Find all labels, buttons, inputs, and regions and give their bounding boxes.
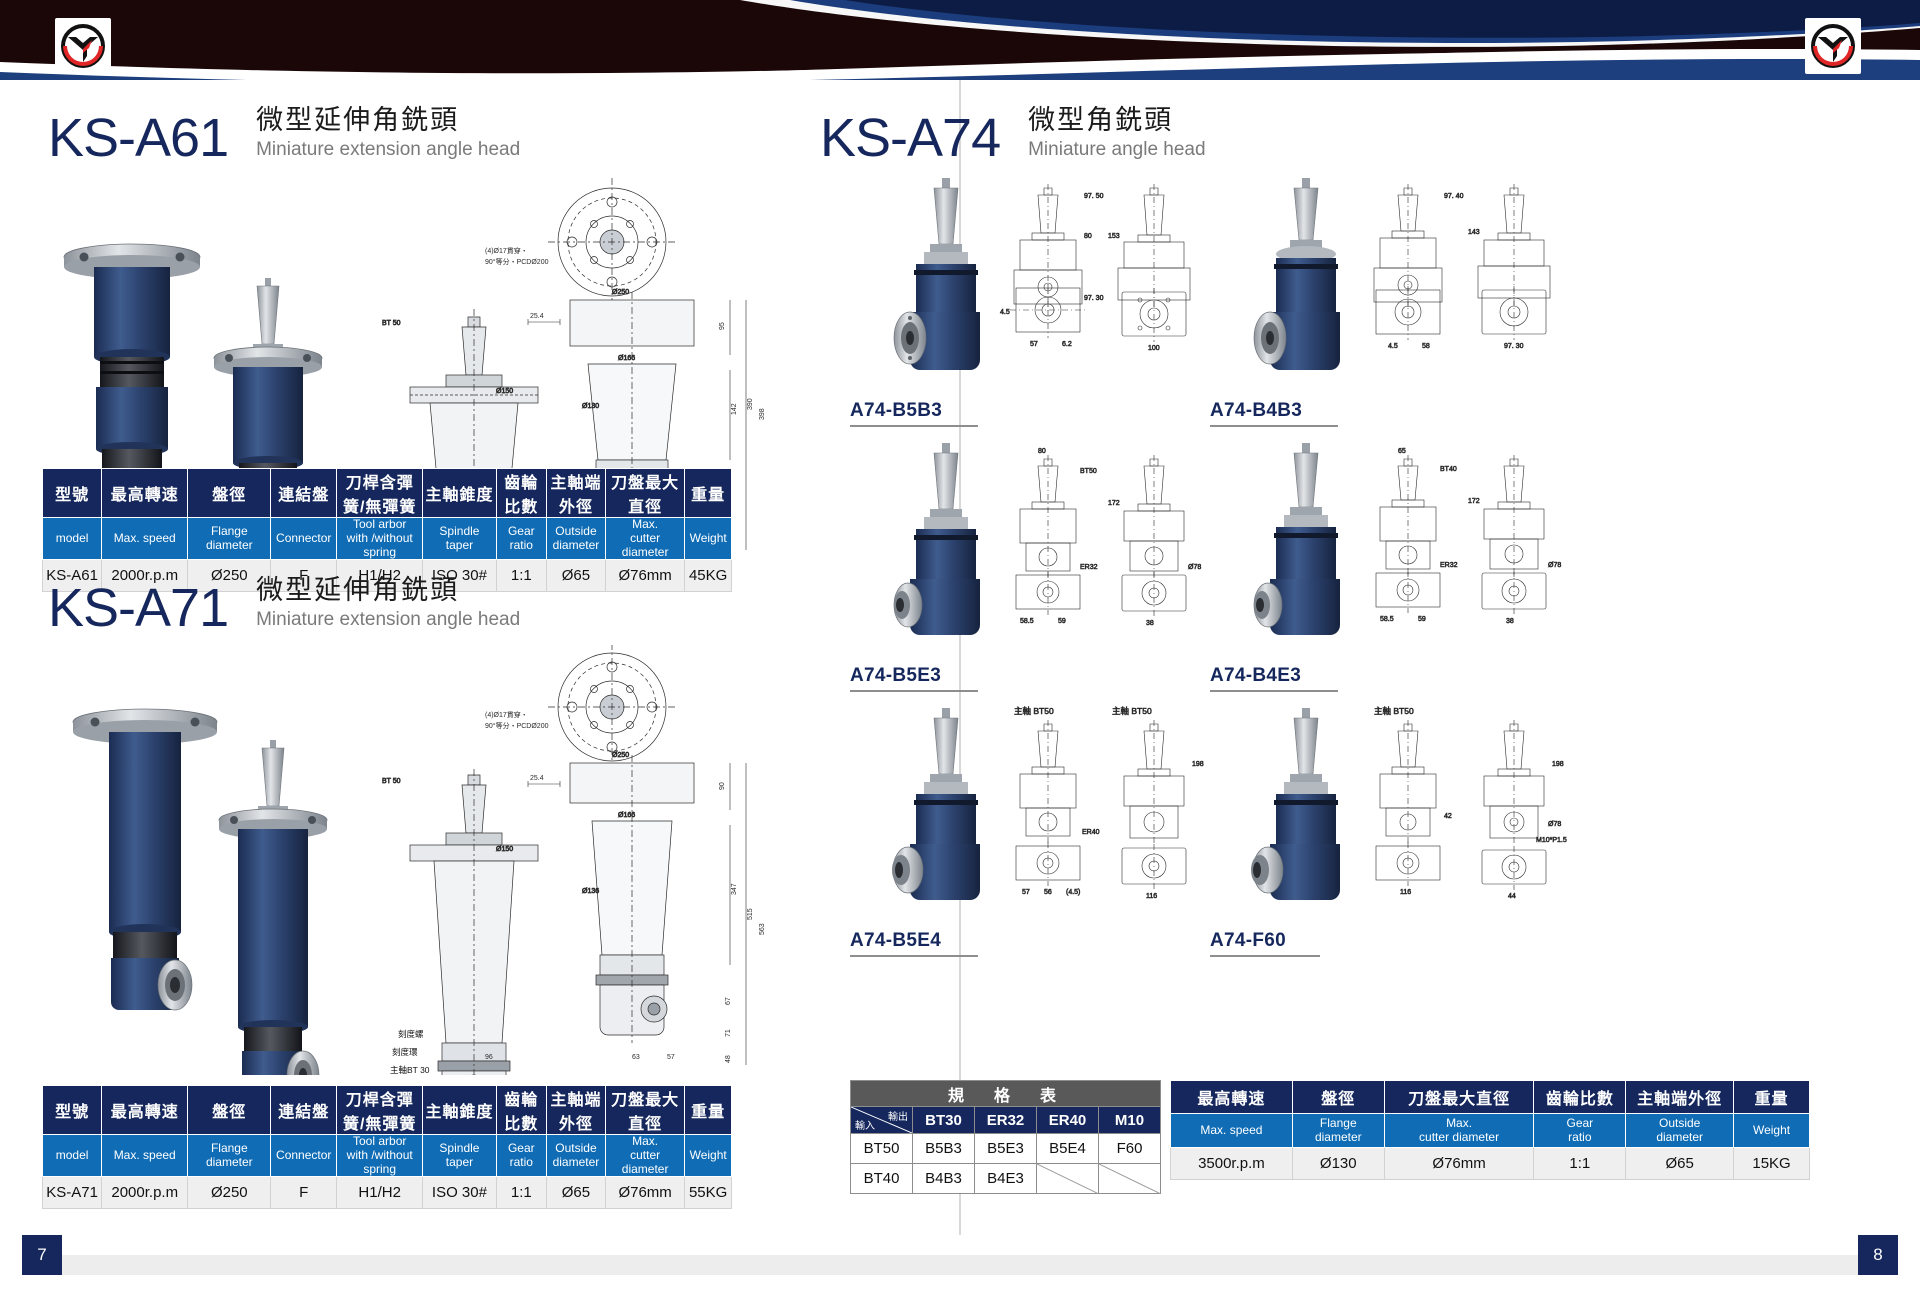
company-logo-right: [1805, 18, 1861, 74]
svg-text:ER32: ER32: [1440, 562, 1458, 569]
cell-max-speed: 3500r.p.m: [1171, 1148, 1293, 1180]
th-en-max-speed: Max. speed: [102, 1135, 188, 1177]
svg-text:116: 116: [1146, 893, 1157, 900]
xref-cell-empty: [1037, 1164, 1099, 1194]
svg-text:主軸 BT50: 主軸 BT50: [1374, 706, 1414, 716]
svg-text:563: 563: [759, 923, 766, 935]
svg-text:Ø78: Ø78: [1188, 564, 1201, 571]
svg-text:97. 30: 97. 30: [1504, 343, 1524, 350]
svg-text:143: 143: [1468, 229, 1480, 236]
th-cn-model: 型號: [43, 1086, 102, 1135]
xref-cell: B5E4: [1037, 1134, 1099, 1164]
cell-weight: 45KG: [685, 560, 732, 592]
footer-bar-left: [62, 1255, 960, 1275]
svg-text:BT50: BT50: [1080, 468, 1097, 475]
th-cn-max-speed: 最高轉速: [102, 469, 188, 518]
svg-text:56: 56: [1044, 889, 1052, 896]
svg-text:42: 42: [1444, 813, 1452, 820]
svg-text:80: 80: [1038, 448, 1046, 455]
svg-text:172: 172: [1108, 500, 1120, 507]
svg-text:63: 63: [632, 1054, 640, 1061]
xref-col-m10: M10: [1099, 1107, 1161, 1134]
model-code-ks-a74: KS-A74: [820, 111, 1000, 165]
svg-text:Ø150: Ø150: [496, 388, 513, 395]
cell-model: KS-A71: [43, 1177, 102, 1209]
svg-text:刻度環: 刻度環: [392, 1047, 418, 1057]
svg-text:116: 116: [1400, 889, 1411, 896]
cell-flange-diameter: Ø250: [188, 1177, 271, 1209]
th-en-spindle-taper: Spindle taper: [423, 1135, 496, 1177]
svg-text:57: 57: [667, 1054, 675, 1061]
table-header-cn-row: 型號 最高轉速 盤徑 連結盤 刀桿含彈簧/無彈簧 主軸錐度 齒輪比數 主軸端外徑…: [43, 1086, 732, 1135]
svg-text:Ø130: Ø130: [582, 403, 599, 410]
cell-weight: 15KG: [1734, 1148, 1810, 1180]
xref-row-input: BT40: [851, 1164, 913, 1194]
th-cn-flange-diameter: 盤徑: [1292, 1081, 1384, 1114]
product-artwork-ks-a71: (4)Ø17貫穿‧ 90°等分‧PCDØ200 25.4 BT 50: [30, 645, 930, 1075]
dim-hole-note: (4)Ø17貫穿‧: [485, 246, 528, 255]
svg-text:4.5: 4.5: [1388, 343, 1398, 350]
svg-text:48: 48: [725, 1055, 732, 1063]
xref-row-bt40: BT40 B4B3 B4E3: [851, 1164, 1161, 1194]
page-footer: 7 8: [0, 1235, 1920, 1311]
svg-text:25.4: 25.4: [530, 313, 544, 320]
th-en-outside-diameter: Outsidediameter: [546, 1135, 605, 1177]
svg-text:153: 153: [1108, 233, 1120, 240]
th-en-tool-arbor: Tool arborwith /without spring: [337, 518, 423, 560]
xref-corner-input: 輸入: [855, 1117, 875, 1132]
th-en-outside-diameter: Outsidediameter: [546, 518, 605, 560]
part-label-a74-b4b3: A74-B4B3: [1210, 400, 1338, 427]
table-header-en-row: model Max. speed Flange diameter Connect…: [43, 1135, 732, 1177]
svg-text:M10*P1.5: M10*P1.5: [1536, 837, 1567, 844]
svg-text:142: 142: [731, 403, 738, 415]
svg-text:67: 67: [725, 997, 732, 1005]
xref-corner-cell: 輸出 輸入: [851, 1107, 913, 1134]
svg-text:Ø78: Ø78: [1548, 562, 1561, 569]
th-cn-connector: 連結盤: [271, 1086, 337, 1135]
title-en-ks-a74: Miniature angle head: [1028, 138, 1205, 163]
spec-table-ks-a74: 最高轉速 盤徑 刀盤最大直徑 齒輪比數 主軸端外徑 重量 Max. speed …: [1170, 1080, 1810, 1180]
svg-text:95: 95: [719, 322, 726, 330]
cell-flange-diameter: Ø130: [1292, 1148, 1384, 1180]
th-en-max-cutter-diameter: Max.cutter diameter: [605, 518, 684, 560]
svg-text:57: 57: [1030, 341, 1038, 348]
th-cn-outside-diameter: 主軸端外徑: [1626, 1081, 1734, 1114]
svg-text:59: 59: [1418, 616, 1426, 623]
xref-header-row: 輸出 輸入 BT30 ER32 ER40 M10: [851, 1107, 1161, 1134]
th-cn-max-cutter-diameter: 刀盤最大直徑: [605, 469, 684, 518]
spec-table-ks-a61: 型號 最高轉速 盤徑 連結盤 刀桿含彈簧/無彈簧 主軸錐度 齒輪比數 主軸端外徑…: [42, 468, 732, 592]
part-label-a74-b5e3: A74-B5E3: [850, 665, 978, 692]
model-code-ks-a71: KS-A71: [48, 581, 228, 635]
model-code-ks-a61: KS-A61: [48, 111, 228, 165]
svg-text:198: 198: [1192, 761, 1204, 768]
xref-cell: B4E3: [975, 1164, 1037, 1194]
th-cn-tool-arbor: 刀桿含彈簧/無彈簧: [337, 469, 423, 518]
title-cn-ks-a61: 微型延伸角銑頭: [256, 105, 520, 136]
svg-text:主軸BT 30: 主軸BT 30: [390, 1065, 430, 1075]
th-cn-tool-arbor: 刀桿含彈簧/無彈簧: [337, 1086, 423, 1135]
svg-text:BT 50: BT 50: [382, 778, 401, 785]
xref-title: 規 格 表: [851, 1081, 1161, 1107]
th-cn-gear-ratio: 齒輪比數: [496, 469, 546, 518]
svg-text:80: 80: [1084, 233, 1092, 240]
svg-text:刻度螺: 刻度螺: [398, 1029, 424, 1039]
xref-col-er32: ER32: [975, 1107, 1037, 1134]
spec-table-ks-a71: 型號 最高轉速 盤徑 連結盤 刀桿含彈簧/無彈簧 主軸錐度 齒輪比數 主軸端外徑…: [42, 1085, 732, 1209]
svg-text:Ø250: Ø250: [612, 752, 629, 759]
svg-text:59: 59: [1058, 618, 1066, 625]
part-label-a74-b5b3: A74-B5B3: [850, 400, 978, 427]
th-en-weight: Weight: [1734, 1114, 1810, 1148]
catalog-spread: KS-A61 微型延伸角銑頭 Miniature extension angle…: [0, 80, 1920, 1235]
svg-text:Ø150: Ø150: [496, 846, 513, 853]
th-en-flange-diameter: Flange diameter: [188, 1135, 271, 1177]
th-en-max-cutter-diameter: Max.cutter diameter: [605, 1135, 684, 1177]
section-heading-ks-a74: KS-A74 微型角銑頭 Miniature angle head: [820, 105, 1206, 165]
svg-text:Ø136: Ø136: [582, 888, 599, 895]
svg-text:Ø166: Ø166: [618, 812, 635, 819]
xref-cell: B5E3: [975, 1134, 1037, 1164]
svg-text:172: 172: [1468, 498, 1480, 505]
cell-max-cutter-diameter: Ø76mm: [1384, 1148, 1534, 1180]
svg-text:390: 390: [747, 398, 754, 410]
cell-connector: F: [271, 1177, 337, 1209]
svg-text:58.5: 58.5: [1380, 616, 1394, 623]
table-row: 3500r.p.m Ø130 Ø76mm 1:1 Ø65 15KG: [1171, 1148, 1810, 1180]
th-en-gear-ratio: Gearratio: [496, 518, 546, 560]
cell-weight: 55KG: [685, 1177, 732, 1209]
cell-gear-ratio: 1:1: [1534, 1148, 1626, 1180]
svg-text:Ø250: Ø250: [612, 289, 629, 296]
th-cn-flange-diameter: 盤徑: [188, 1086, 271, 1135]
page-banner: [0, 0, 1920, 80]
svg-text:25.4: 25.4: [530, 775, 544, 782]
svg-text:65: 65: [1398, 448, 1406, 455]
th-en-weight: Weight: [685, 1135, 732, 1177]
th-cn-weight: 重量: [685, 469, 732, 518]
th-cn-max-speed: 最高轉速: [1171, 1081, 1293, 1114]
svg-text:97. 30: 97. 30: [1084, 295, 1104, 302]
cell-spindle-taper: ISO 30#: [423, 1177, 496, 1209]
variant-art-a74-b4e3: 65 BT40 ER32 58.559: [1210, 435, 1590, 665]
svg-text:(4.5): (4.5): [1066, 889, 1080, 896]
svg-text:Ø166: Ø166: [618, 355, 635, 362]
th-cn-outside-diameter: 主軸端外徑: [546, 469, 605, 518]
th-en-connector: Connector: [271, 518, 337, 560]
table-header-cn-row: 最高轉速 盤徑 刀盤最大直徑 齒輪比數 主軸端外徑 重量: [1171, 1081, 1810, 1114]
th-cn-flange-diameter: 盤徑: [188, 469, 271, 518]
th-cn-connector: 連結盤: [271, 469, 337, 518]
xref-cell: B5B3: [913, 1134, 975, 1164]
svg-text:96: 96: [485, 1054, 493, 1061]
th-cn-gear-ratio: 齒輪比數: [1534, 1081, 1626, 1114]
th-en-model: model: [43, 1135, 102, 1177]
th-cn-max-cutter-diameter: 刀盤最大直徑: [1384, 1081, 1534, 1114]
th-en-flange-diameter: Flange diameter: [188, 518, 271, 560]
th-cn-spindle-taper: 主軸錐度: [423, 1086, 496, 1135]
page-number-left: 7: [22, 1235, 62, 1275]
title-en-ks-a61: Miniature extension angle head: [256, 138, 520, 163]
svg-text:58: 58: [1422, 343, 1430, 350]
part-label-a74-b4e3: A74-B4E3: [1210, 665, 1338, 692]
svg-text:198: 198: [1552, 761, 1564, 768]
svg-text:ER32: ER32: [1080, 564, 1098, 571]
svg-text:主軸 BT50: 主軸 BT50: [1112, 706, 1152, 716]
svg-text:38: 38: [1146, 620, 1154, 627]
svg-text:58.5: 58.5: [1020, 618, 1034, 625]
svg-text:97. 50: 97. 50: [1084, 193, 1104, 200]
svg-text:44: 44: [1508, 893, 1516, 900]
cell-outside-diameter: Ø65: [1626, 1148, 1734, 1180]
svg-text:347: 347: [731, 883, 738, 895]
svg-text:4.5: 4.5: [1000, 309, 1010, 316]
svg-text:(4)Ø17貫穿‧: (4)Ø17貫穿‧: [485, 710, 528, 719]
xref-table-a74: 規 格 表 輸出 輸入 BT30 ER32 ER40 M10 BT50 B5B3…: [850, 1080, 1161, 1194]
footer-bar-right: [960, 1255, 1858, 1275]
variant-art-a74-b5e4: 主軸 BT50 ER40 5756 (4.5) 主: [850, 700, 1230, 930]
table-row: KS-A71 2000r.p.m Ø250 F H1/H2 ISO 30# 1:…: [43, 1177, 732, 1209]
th-en-max-speed: Max. speed: [1171, 1114, 1293, 1148]
page-number-right: 8: [1858, 1235, 1898, 1275]
xref-cell: F60: [1099, 1134, 1161, 1164]
svg-text:6.2: 6.2: [1062, 341, 1072, 348]
th-en-outside-diameter: Outsidediameter: [1626, 1114, 1734, 1148]
left-page: KS-A61 微型延伸角銑頭 Miniature extension angle…: [0, 80, 960, 1235]
xref-title-row: 規 格 表: [851, 1081, 1161, 1107]
svg-text:90°等分‧PCDØ200: 90°等分‧PCDØ200: [485, 721, 549, 730]
svg-text:90°等分‧PCDØ200: 90°等分‧PCDØ200: [485, 257, 549, 266]
section-heading-ks-a71: KS-A71 微型延伸角銑頭 Miniature extension angle…: [48, 575, 520, 635]
th-cn-weight: 重量: [685, 1086, 732, 1135]
variant-art-a74-b5e3: 80 BT50 ER32 58.559: [850, 435, 1230, 665]
table-header-en-row: model Max. speed Flange diameter Connect…: [43, 518, 732, 560]
table-header-en-row: Max. speed Flangediameter Max.cutter dia…: [1171, 1114, 1810, 1148]
variant-art-a74-f60: 主軸 BT50 42 116: [1210, 700, 1590, 930]
svg-text:Ø78: Ø78: [1548, 821, 1561, 828]
svg-text:BT 50: BT 50: [382, 320, 401, 327]
svg-text:BT40: BT40: [1440, 466, 1457, 473]
section-heading-ks-a61: KS-A61 微型延伸角銑頭 Miniature extension angle…: [48, 105, 520, 165]
cell-gear-ratio: 1:1: [496, 1177, 546, 1209]
xref-row-bt50: BT50 B5B3 B5E3 B5E4 F60: [851, 1134, 1161, 1164]
title-en-ks-a71: Miniature extension angle head: [256, 608, 520, 633]
company-logo-left: [55, 18, 111, 74]
th-cn-max-speed: 最高轉速: [102, 1086, 188, 1135]
svg-text:90: 90: [719, 782, 726, 790]
th-cn-max-cutter-diameter: 刀盤最大直徑: [605, 1086, 684, 1135]
th-cn-spindle-taper: 主軸錐度: [423, 469, 496, 518]
svg-text:主軸 BT50: 主軸 BT50: [1014, 706, 1054, 716]
part-label-a74-b5e4: A74-B5E4: [850, 930, 978, 957]
xref-row-input: BT50: [851, 1134, 913, 1164]
xref-col-bt30: BT30: [913, 1107, 975, 1134]
part-label-a74-f60: A74-F60: [1210, 930, 1320, 957]
th-en-weight: Weight: [685, 518, 732, 560]
title-cn-ks-a74: 微型角銑頭: [1028, 105, 1205, 136]
th-en-model: model: [43, 518, 102, 560]
xref-cell-empty: [1099, 1164, 1161, 1194]
table-header-cn-row: 型號 最高轉速 盤徑 連結盤 刀桿含彈簧/無彈簧 主軸錐度 齒輪比數 主軸端外徑…: [43, 469, 732, 518]
svg-text:398: 398: [759, 408, 766, 420]
svg-text:ER40: ER40: [1082, 829, 1100, 836]
th-en-gear-ratio: Gearratio: [1534, 1114, 1626, 1148]
th-en-max-cutter-diameter: Max.cutter diameter: [1384, 1114, 1534, 1148]
variant-art-a74-b4b3: 97. 40 4.558 143: [1210, 170, 1590, 400]
th-en-spindle-taper: Spindle taper: [423, 518, 496, 560]
cell-max-speed: 2000r.p.m: [102, 1177, 188, 1209]
xref-corner-output: 輸出: [888, 1108, 908, 1123]
svg-text:100: 100: [1148, 345, 1160, 352]
svg-text:38: 38: [1506, 618, 1514, 625]
xref-cell: B4B3: [913, 1164, 975, 1194]
cell-max-cutter-diameter: Ø76mm: [605, 1177, 684, 1209]
th-cn-weight: 重量: [1734, 1081, 1810, 1114]
th-en-connector: Connector: [271, 1135, 337, 1177]
variant-art-a74-b5b3: 97. 50 80 97. 30 576.2 4.5: [850, 170, 1230, 400]
svg-text:71: 71: [725, 1029, 732, 1037]
th-en-max-speed: Max. speed: [102, 518, 188, 560]
title-cn-ks-a71: 微型延伸角銑頭: [256, 575, 520, 606]
th-cn-gear-ratio: 齒輪比數: [496, 1086, 546, 1135]
svg-text:97. 40: 97. 40: [1444, 193, 1464, 200]
th-cn-model: 型號: [43, 469, 102, 518]
cell-tool-arbor: H1/H2: [337, 1177, 423, 1209]
svg-text:515: 515: [747, 908, 754, 920]
th-en-tool-arbor: Tool arborwith /without spring: [337, 1135, 423, 1177]
th-en-gear-ratio: Gearratio: [496, 1135, 546, 1177]
th-cn-outside-diameter: 主軸端外徑: [546, 1086, 605, 1135]
cell-max-cutter-diameter: Ø76mm: [605, 560, 684, 592]
th-en-flange-diameter: Flangediameter: [1292, 1114, 1384, 1148]
xref-col-er40: ER40: [1037, 1107, 1099, 1134]
cell-outside-diameter: Ø65: [546, 1177, 605, 1209]
right-page: KS-A74 微型角銑頭 Miniature angle head: [960, 80, 1920, 1235]
svg-text:57: 57: [1022, 889, 1030, 896]
cell-outside-diameter: Ø65: [546, 560, 605, 592]
